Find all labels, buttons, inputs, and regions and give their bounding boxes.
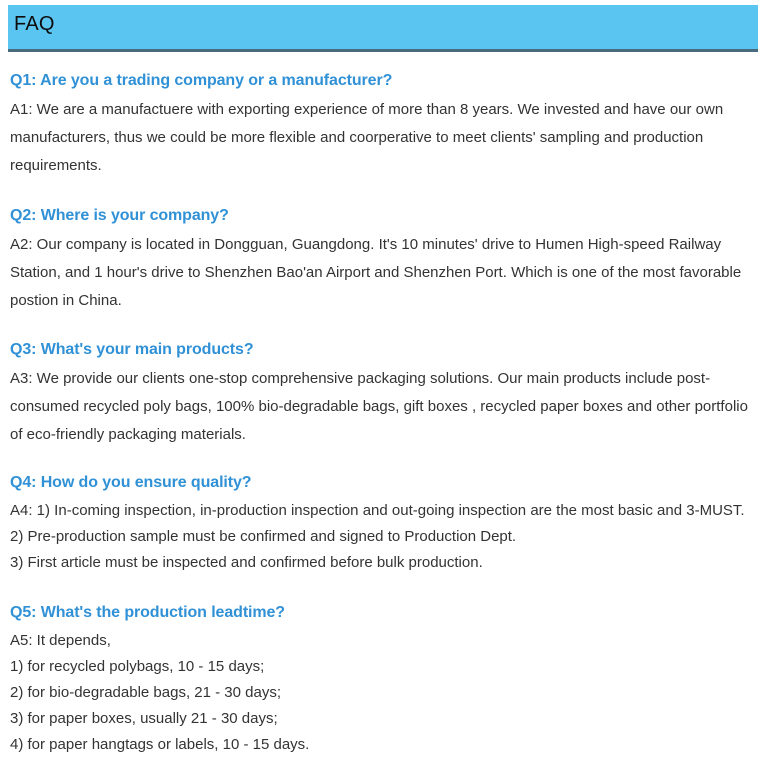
faq-question-q1: Q1: Are you a trading company or a manuf… — [10, 70, 755, 92]
faq-item-q1: Q1: Are you a trading company or a manuf… — [10, 70, 755, 180]
faq-page: FAQ Q1: Are you a trading company or a m… — [0, 0, 765, 748]
faq-question-q3: Q3: What's your main products? — [10, 339, 755, 361]
page-title: FAQ — [14, 12, 55, 36]
faq-answer-q4: A4: 1) In-coming inspection, in-producti… — [10, 498, 754, 576]
faq-spacer — [10, 459, 755, 472]
faq-answer-line: A5: It depends, — [10, 628, 754, 654]
faq-answer-line: 1) for recycled polybags, 10 - 15 days; — [10, 654, 754, 680]
faq-item-q4: Q4: How do you ensure quality? A4: 1) In… — [10, 472, 755, 576]
faq-spacer — [10, 586, 755, 602]
faq-answer-line: 2) for bio-degradable bags, 21 - 30 days… — [10, 680, 754, 706]
faq-item-q5: Q5: What's the production leadtime? A5: … — [10, 602, 755, 758]
faq-answer-line: 4) for paper hangtags or labels, 10 - 15… — [10, 732, 754, 758]
faq-answer-q2: A2: Our company is located in Dongguan, … — [10, 231, 754, 315]
faq-answer-q5: A5: It depends, 1) for recycled polybags… — [10, 628, 754, 758]
faq-item-q2: Q2: Where is your company? A2: Our compa… — [10, 205, 755, 315]
faq-answer-q3: A3: We provide our clients one-stop comp… — [10, 365, 754, 449]
faq-answer-q1: A1: We are a manufactuere with exporting… — [10, 96, 754, 180]
faq-item-q3: Q3: What's your main products? A3: We pr… — [10, 339, 755, 449]
faq-spacer — [10, 191, 755, 205]
faq-question-q4: Q4: How do you ensure quality? — [10, 472, 755, 494]
faq-answer-line: 2) Pre-production sample must be confirm… — [10, 524, 754, 550]
faq-answer-line: 3) for paper boxes, usually 21 - 30 days… — [10, 706, 754, 732]
faq-answer-line: A4: 1) In-coming inspection, in-producti… — [10, 498, 754, 524]
faq-question-q2: Q2: Where is your company? — [10, 205, 755, 227]
faq-list: Q1: Are you a trading company or a manuf… — [10, 70, 755, 768]
faq-spacer — [10, 325, 755, 339]
faq-question-q5: Q5: What's the production leadtime? — [10, 602, 755, 624]
faq-answer-line: 3) First article must be inspected and c… — [10, 550, 754, 576]
faq-header-band: FAQ — [8, 5, 758, 52]
